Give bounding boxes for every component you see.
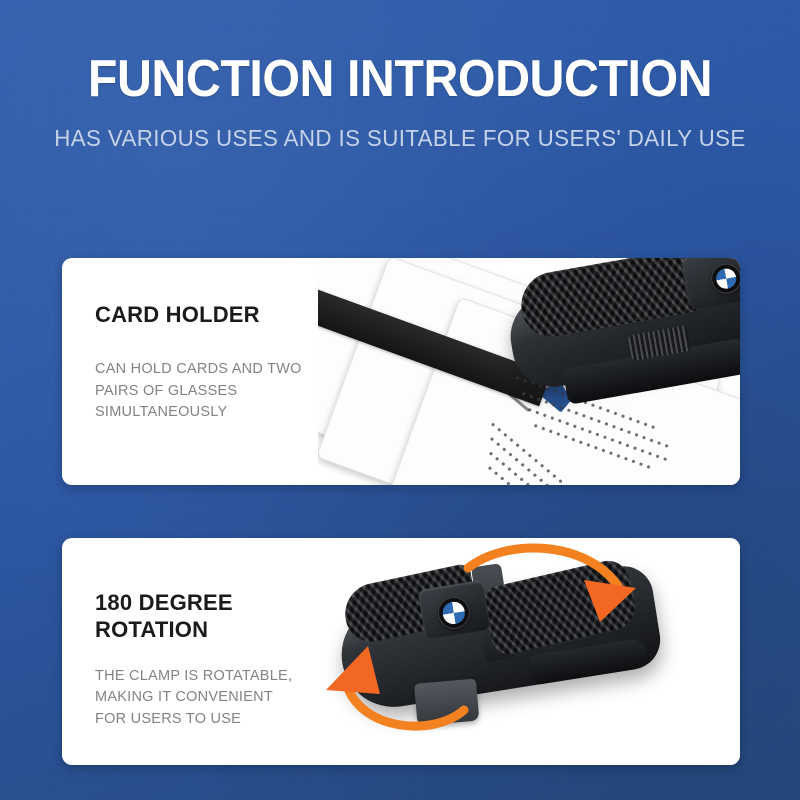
feature-description: CAN HOLD CARDS AND TWO PAIRS OF GLASSES … <box>95 359 318 424</box>
rotation-arrow-top-icon <box>460 544 650 630</box>
clip-emblem-plate <box>681 258 740 310</box>
product-feature-poster: FUNCTION INTRODUCTION HAS VARIOUS USES A… <box>0 0 800 800</box>
business-cards-scene <box>318 258 740 485</box>
feature-card-text-block: 180 DEGREE ROTATION THE CLAMP IS ROTATAB… <box>62 538 318 765</box>
feature-card-text-block: CARD HOLDER CAN HOLD CARDS AND TWO PAIRS… <box>62 258 318 485</box>
bmw-logo-icon <box>709 261 740 296</box>
rotating-clamp-scene <box>318 538 740 765</box>
feature-title: 180 DEGREE ROTATION <box>95 590 318 644</box>
page-title: FUNCTION INTRODUCTION <box>28 52 772 106</box>
page-subtitle: HAS VARIOUS USES AND IS SUITABLE FOR USE… <box>12 122 788 155</box>
feature-card-rotation: 180 DEGREE ROTATION THE CLAMP IS ROTATAB… <box>62 538 740 765</box>
poster-header: FUNCTION INTRODUCTION HAS VARIOUS USES A… <box>0 52 800 155</box>
feature-card-card-holder: CARD HOLDER CAN HOLD CARDS AND TWO PAIRS… <box>62 258 740 485</box>
rotation-arrow-bottom-icon <box>324 638 474 728</box>
feature-title: CARD HOLDER <box>95 302 318 329</box>
feature-description: THE CLAMP IS ROTATABLE, MAKING IT CONVEN… <box>95 666 318 731</box>
feature-photo-card-holder <box>318 258 740 485</box>
feature-photo-rotation <box>318 538 740 765</box>
